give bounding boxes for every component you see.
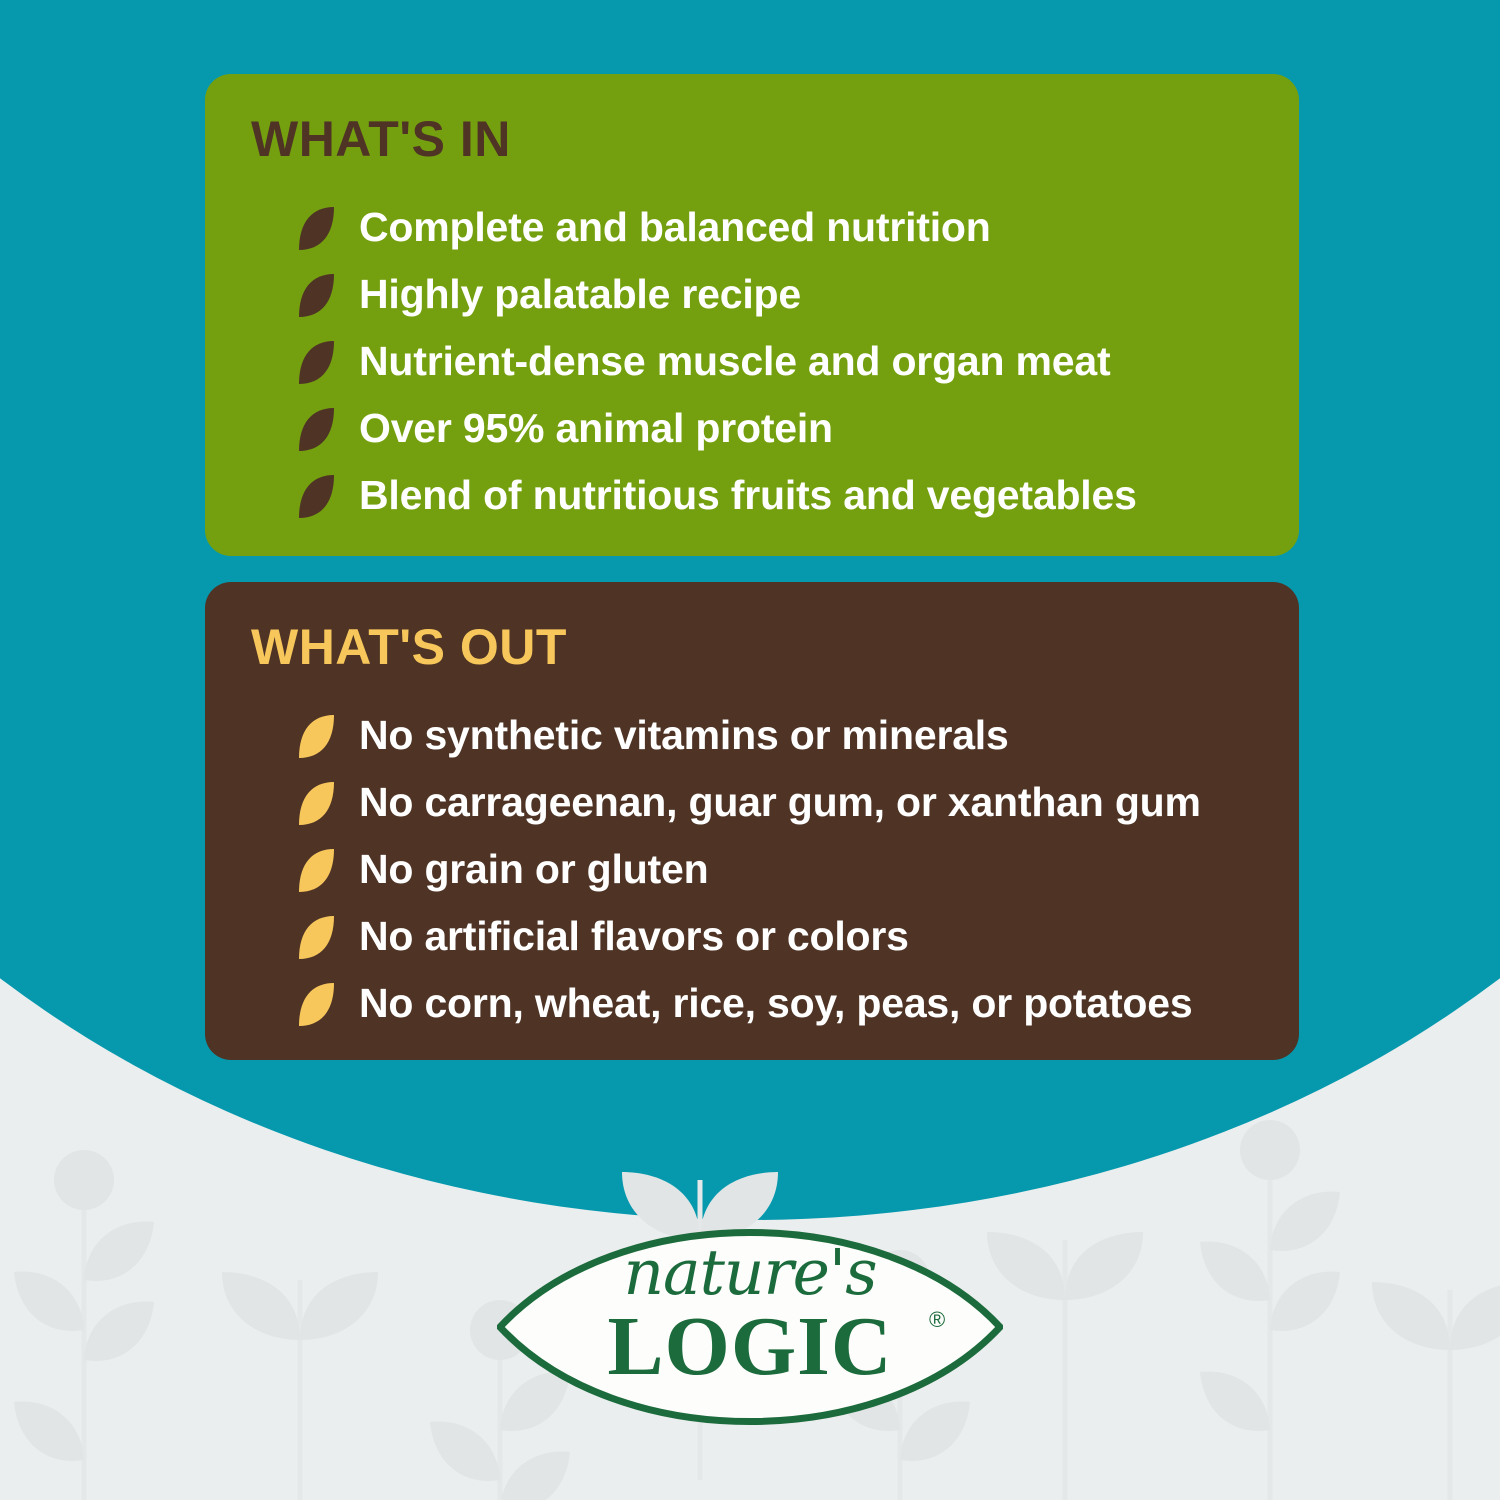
whats-in-title: WHAT'S IN <box>251 114 1253 164</box>
leaf-bullet-icon <box>295 780 337 826</box>
leaf-bullet-icon <box>295 713 337 759</box>
list-item: No carrageenan, guar gum, or xanthan gum <box>251 769 1253 836</box>
list-item: Over 95% animal protein <box>251 395 1253 462</box>
leaf-bullet-icon <box>295 406 337 452</box>
registered-trademark-icon: ® <box>929 1307 945 1333</box>
list-item-label: No synthetic vitamins or minerals <box>359 712 1009 759</box>
leaf-bullet-icon <box>295 981 337 1027</box>
infographic-canvas: WHAT'S IN Complete and balanced nutritio… <box>0 0 1500 1500</box>
list-item: Complete and balanced nutrition <box>251 194 1253 261</box>
list-item-label: Over 95% animal protein <box>359 405 833 452</box>
list-item: No grain or gluten <box>251 836 1253 903</box>
whats-out-card: WHAT'S OUT No synthetic vitamins or mine… <box>205 582 1299 1060</box>
leaf-bullet-icon <box>295 339 337 385</box>
leaf-bullet-icon <box>295 473 337 519</box>
list-item-label: Nutrient-dense muscle and organ meat <box>359 338 1110 385</box>
list-item: Blend of nutritious fruits and vegetable… <box>251 462 1253 529</box>
list-item-label: No carrageenan, guar gum, or xanthan gum <box>359 779 1201 826</box>
whats-in-card: WHAT'S IN Complete and balanced nutritio… <box>205 74 1299 556</box>
list-item-label: Complete and balanced nutrition <box>359 204 991 251</box>
list-item-label: No artificial flavors or colors <box>359 913 909 960</box>
list-item: No artificial flavors or colors <box>251 903 1253 970</box>
list-item-label: No grain or gluten <box>359 846 708 893</box>
list-item: Highly palatable recipe <box>251 261 1253 328</box>
logo-script-text: nature's <box>497 1241 1003 1304</box>
list-item-label: Blend of nutritious fruits and vegetable… <box>359 472 1137 519</box>
logo-main-text: LOGIC <box>497 1305 1003 1389</box>
list-item-label: No corn, wheat, rice, soy, peas, or pota… <box>359 980 1192 1027</box>
leaf-bullet-icon <box>295 914 337 960</box>
brand-logo: nature's LOGIC ® <box>497 1195 1003 1460</box>
list-item: Nutrient-dense muscle and organ meat <box>251 328 1253 395</box>
list-item: No synthetic vitamins or minerals <box>251 702 1253 769</box>
whats-out-bullet-list: No synthetic vitamins or minerals No car… <box>251 702 1253 1037</box>
list-item-label: Highly palatable recipe <box>359 271 801 318</box>
whats-out-title: WHAT'S OUT <box>251 622 1253 672</box>
whats-in-bullet-list: Complete and balanced nutrition Highly p… <box>251 194 1253 529</box>
leaf-bullet-icon <box>295 847 337 893</box>
leaf-bullet-icon <box>295 272 337 318</box>
leaf-bullet-icon <box>295 205 337 251</box>
list-item: No corn, wheat, rice, soy, peas, or pota… <box>251 970 1253 1037</box>
